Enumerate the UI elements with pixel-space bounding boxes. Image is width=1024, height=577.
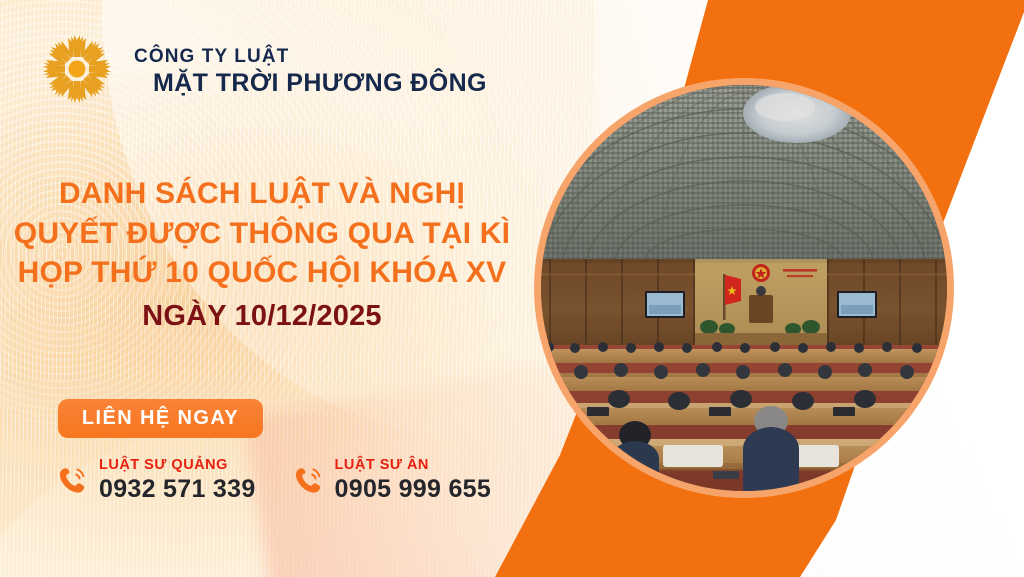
headline-line-3: HỌP THỨ 10 QUỐC HỘI KHÓA XV xyxy=(0,253,524,293)
contact-name: LUẬT SƯ ÂN xyxy=(335,458,492,473)
headline-line-2: QUYẾT ĐƯỢC THÔNG QUA TẠI KÌ xyxy=(0,214,524,254)
headline-date: NGÀY 10/12/2025 xyxy=(0,297,524,335)
headline-block: DANH SÁCH LUẬT VÀ NGHỊ QUYẾT ĐƯỢC THÔNG … xyxy=(0,174,524,335)
contact-item[interactable]: LUẬT SƯ ÂN 0905 999 655 xyxy=(292,458,492,502)
promo-banner: CÔNG TY LUẬT MẶT TRỜI PHƯƠNG ĐÔNG DANH S… xyxy=(0,0,1024,577)
contact-list: LUẬT SƯ QUẢNG 0932 571 339 LUẬT SƯ ÂN 09… xyxy=(56,458,491,502)
brand-line-2: MẶT TRỜI PHƯƠNG ĐÔNG xyxy=(153,71,487,96)
assembly-hall-photo xyxy=(541,85,947,491)
headline-line-1: DANH SÁCH LUẬT VÀ NGHỊ xyxy=(0,174,524,214)
sun-burst-icon xyxy=(34,26,120,112)
brand-line-1: CÔNG TY LUẬT xyxy=(134,47,487,66)
phone-icon xyxy=(292,464,326,498)
contact-now-button[interactable]: LIÊN HỆ NGAY xyxy=(58,399,263,438)
contact-number[interactable]: 0932 571 339 xyxy=(99,477,256,502)
contact-name: LUẬT SƯ QUẢNG xyxy=(99,458,256,473)
contact-item[interactable]: LUẬT SƯ QUẢNG 0932 571 339 xyxy=(56,458,256,502)
brand-logo[interactable]: CÔNG TY LUẬT MẶT TRỜI PHƯƠNG ĐÔNG xyxy=(34,26,487,112)
contact-number[interactable]: 0905 999 655 xyxy=(335,477,492,502)
phone-icon xyxy=(56,464,90,498)
